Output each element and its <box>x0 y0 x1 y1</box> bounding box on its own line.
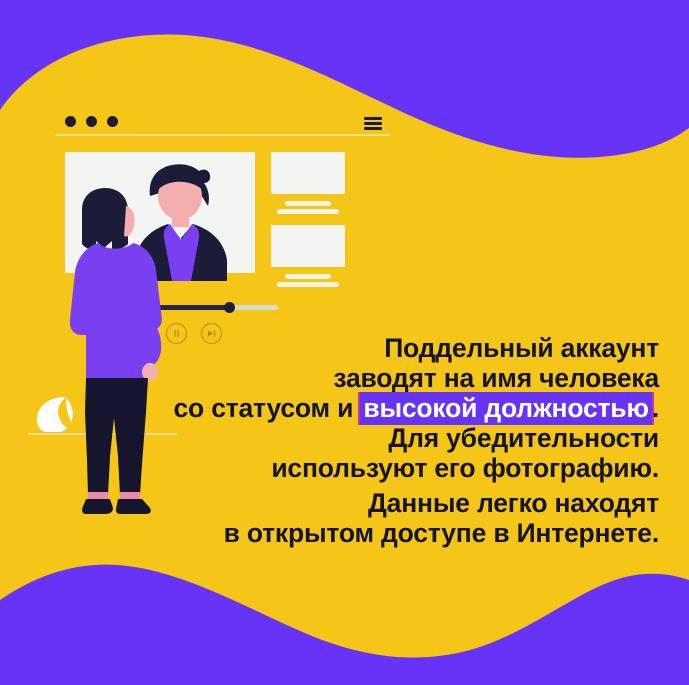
window-dot-icon[interactable] <box>86 116 97 127</box>
header-divider <box>55 134 390 136</box>
thumbnail-card-1-line <box>277 209 339 214</box>
video-player-screen[interactable] <box>65 152 255 273</box>
subline-2: в открытом доступе в Интернете. <box>139 518 659 548</box>
window-dot-icon[interactable] <box>65 116 76 127</box>
thumbnail-card-2-line <box>285 274 331 279</box>
headline-block-1: Поддельный аккаунт заводят на имя челове… <box>139 333 659 483</box>
subline-1: Данные легко находят <box>139 488 659 518</box>
thumbnail-card-2[interactable] <box>271 225 345 267</box>
headline-block-2: Данные легко находят в открытом доступе … <box>139 488 659 548</box>
thumbnail-card-1[interactable] <box>271 152 345 194</box>
hamburger-line <box>364 122 382 125</box>
thumbnail-card-1-line <box>285 201 331 206</box>
hamburger-line <box>364 117 382 120</box>
video-progress-knob[interactable] <box>224 302 235 313</box>
headline-line-3: со статусом и высокой должностью. <box>139 393 659 423</box>
headline-line-2: заводят на имя человека <box>139 363 659 393</box>
headline-line-1: Поддельный аккаунт <box>139 333 659 363</box>
video-progress-bar[interactable] <box>134 305 278 310</box>
highlighted-phrase: высокой должностью <box>360 392 651 425</box>
headline-line-3-pre: со статусом и <box>174 393 361 423</box>
browser-window-mockup <box>55 108 390 318</box>
window-controls <box>65 116 118 127</box>
headline-line-4: Для убедительности <box>139 423 659 453</box>
thumbnail-card-2-line <box>277 282 339 287</box>
video-progress-fill <box>134 305 229 310</box>
headline-line-3-post: . <box>652 393 659 423</box>
hamburger-menu-icon[interactable] <box>364 117 382 130</box>
headline-line-5: используют его фотографию. <box>139 453 659 483</box>
window-dot-icon[interactable] <box>107 116 118 127</box>
poster-canvas: Поддельный аккаунт заводят на имя челове… <box>0 0 689 685</box>
hamburger-line <box>364 127 382 130</box>
